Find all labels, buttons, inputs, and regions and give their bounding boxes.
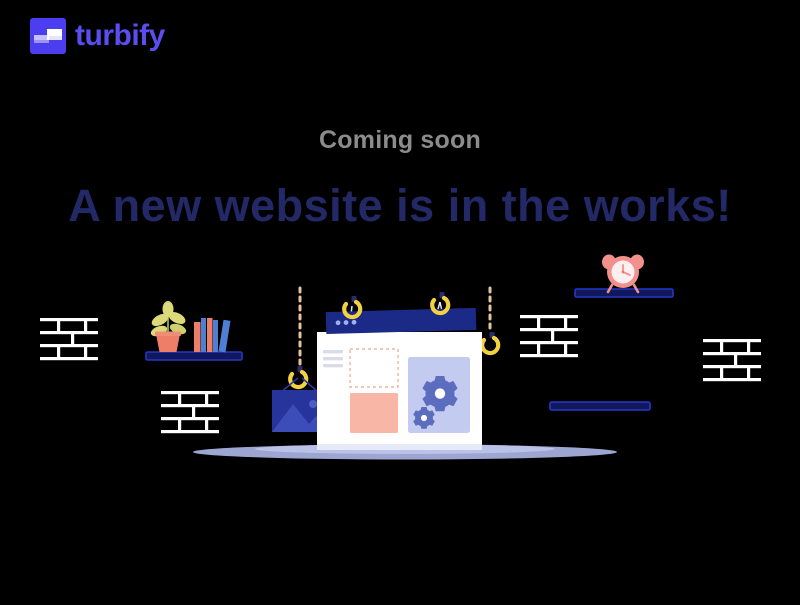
brick-wall-lower-left [161, 391, 219, 433]
turbify-logo-icon [30, 18, 66, 54]
brand-wordmark: turbify [75, 21, 165, 51]
brick-wall-far-right [703, 339, 761, 381]
hook-left-dotted [290, 366, 306, 387]
browser-window-mockup [317, 302, 482, 450]
website-under-construction-illustration [0, 0, 800, 600]
brick-wall-right [520, 315, 578, 357]
page-title: A new website is in the works! [0, 180, 800, 232]
shelf-empty [550, 402, 650, 410]
hook-browser-left [344, 296, 360, 317]
hook-right-dotted [482, 332, 498, 353]
shelf-with-alarm-clock [575, 255, 673, 298]
books [194, 318, 230, 352]
brick-wall-far-left [40, 318, 98, 360]
potted-plant [149, 301, 187, 352]
eyebrow-text: Coming soon [0, 126, 800, 155]
gear-small-icon [413, 407, 435, 429]
hook-browser-right [432, 292, 448, 313]
alarm-clock-icon [602, 255, 644, 293]
floor-shadow [193, 444, 617, 460]
hanging-picture-frame [272, 378, 326, 432]
shelf-with-plant-and-books [146, 301, 242, 360]
gear-large-icon [422, 376, 457, 411]
brand-logo[interactable]: turbify [30, 18, 165, 54]
